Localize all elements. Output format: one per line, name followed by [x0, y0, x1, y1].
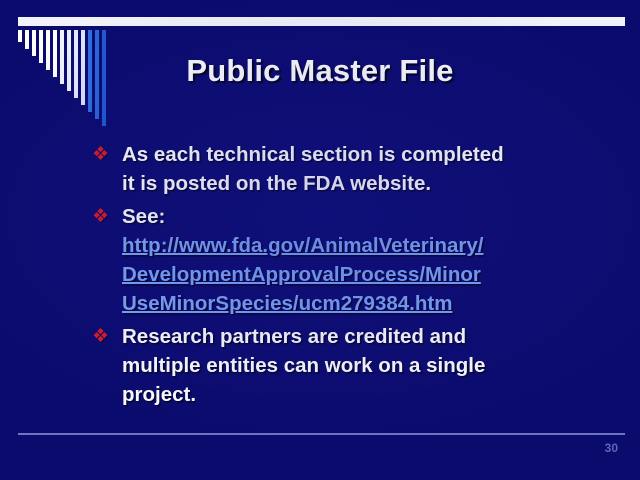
bullet-line: Research partners are credited and [122, 325, 466, 348]
bullet-item-see-link: ❖ See: http://www.fda.gov/AnimalVeterina… [92, 202, 610, 318]
diamond-bullet-icon: ❖ [92, 140, 122, 169]
bullet-line: project. [122, 383, 196, 406]
decoration-bar [18, 30, 22, 42]
slide-title: Public Master File [0, 53, 640, 89]
bullet-text-technical-section: As each technical section is completed i… [122, 140, 610, 198]
bullet-line: it is posted on the FDA website. [122, 172, 431, 195]
slide-body: ❖ As each technical section is completed… [92, 140, 610, 413]
bullet-item-research-partners: ❖ Research partners are credited and mul… [92, 322, 610, 409]
diamond-bullet-icon: ❖ [92, 322, 122, 351]
bullet-line: As each technical section is completed [122, 143, 504, 166]
bullet-line: See: [122, 205, 165, 228]
bullet-line: multiple entities can work on a single [122, 354, 485, 377]
bullet-text-see: See: http://www.fda.gov/AnimalVeterinary… [122, 202, 610, 318]
decoration-bar [25, 30, 29, 49]
hyperlink-fda-url-line-3[interactable]: UseMinorSpecies/ucm279384.htm [122, 289, 610, 318]
bullet-item-technical-section: ❖ As each technical section is completed… [92, 140, 610, 198]
diamond-bullet-icon: ❖ [92, 202, 122, 231]
top-accent-bar [18, 17, 625, 26]
slide-number: 30 [605, 441, 618, 455]
presentation-slide: Public Master File ❖ As each technical s… [0, 0, 640, 480]
footer-divider [18, 433, 625, 435]
bullet-text-research-partners: Research partners are credited and multi… [122, 322, 610, 409]
hyperlink-fda-url-line-1[interactable]: http://www.fda.gov/AnimalVeterinary/ [122, 231, 610, 260]
hyperlink-fda-url-line-2[interactable]: DevelopmentApprovalProcess/Minor [122, 260, 610, 289]
